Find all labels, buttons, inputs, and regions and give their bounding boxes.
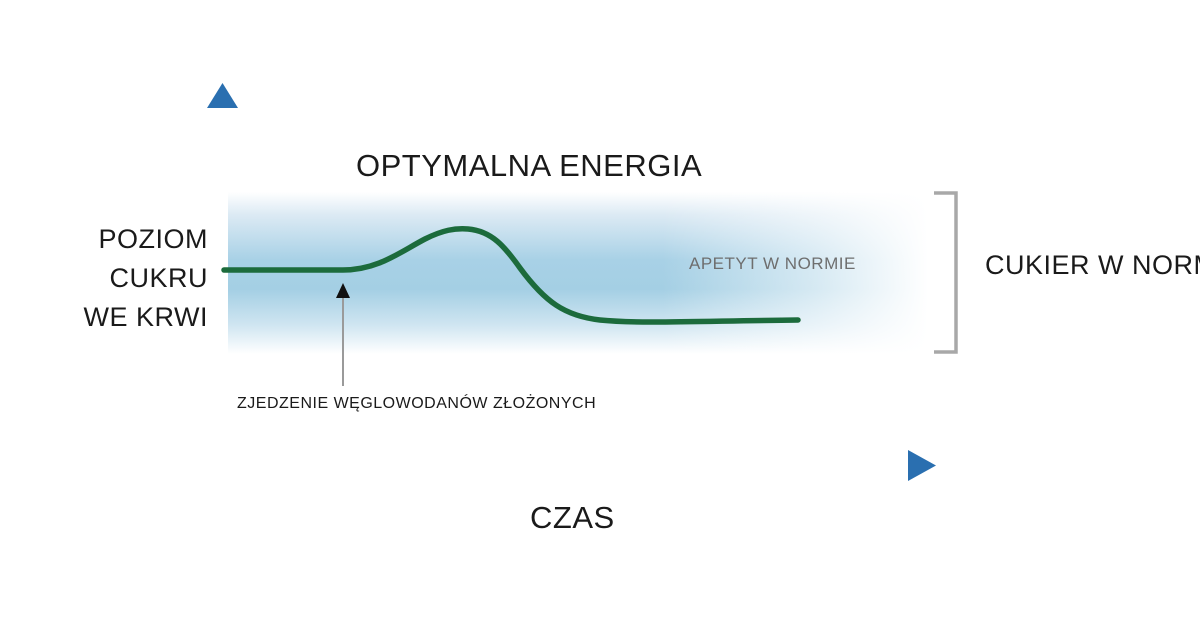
- y-axis-arrowhead-icon: [207, 83, 238, 108]
- bracket-label: CUKIER W NORMIE: [985, 250, 1200, 281]
- range-bracket-icon: [934, 193, 956, 352]
- x-axis-label: CZAS: [530, 500, 615, 536]
- chart-canvas: OPTYMALNA ENERGIA POZIOM CUKRU WE KRWI C…: [0, 0, 1200, 628]
- blood-sugar-curve: [224, 229, 798, 322]
- chart-title: OPTYMALNA ENERGIA: [356, 148, 702, 184]
- y-axis-label-line1: POZIOM CUKRU: [99, 224, 209, 293]
- y-axis-label-line2: WE KRWI: [84, 302, 209, 332]
- annotation-arrowhead-icon: [336, 283, 350, 298]
- y-axis-label: POZIOM CUKRU WE KRWI: [38, 220, 208, 337]
- annotation-label: ZJEDZENIE WĘGLOWODANÓW ZŁOŻONYCH: [237, 395, 596, 413]
- band-inner-label: APETYT W NORMIE: [689, 254, 856, 274]
- x-axis-arrowhead-icon: [908, 450, 936, 481]
